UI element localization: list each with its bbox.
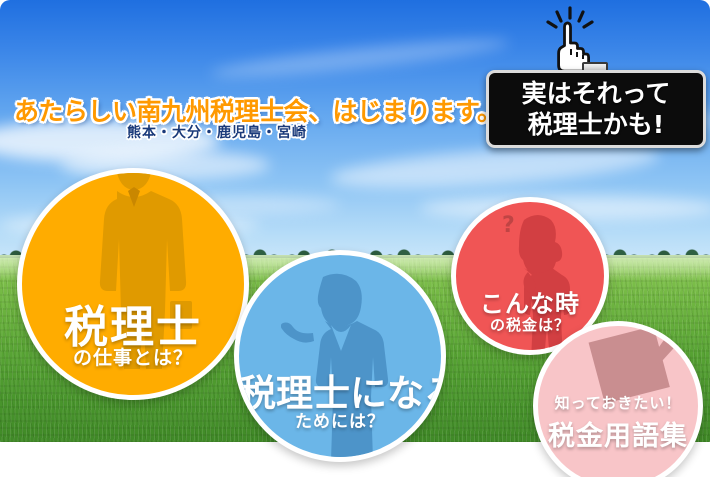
bubble-become-tax-accountant[interactable]: 税理士になる ためには？: [234, 250, 446, 462]
bubble-tax-accountant-job[interactable]: 税理士 の仕事とは？: [17, 168, 249, 400]
bubble-caption-sub: 税金用語集: [538, 414, 698, 453]
bubble-caption-sub: の仕事とは？: [22, 343, 244, 370]
sign-line-1: 実はそれって: [522, 78, 671, 109]
bubble-caption-main: 知っておきたい！: [538, 392, 698, 413]
bubble-tax-glossary[interactable]: 知っておきたい！ 税金用語集: [533, 321, 703, 477]
callout-sign[interactable]: 実はそれって 税理士かも!: [486, 6, 700, 142]
question-mark-badge: ?: [502, 213, 515, 238]
bubble-caption-sub: ためには？: [239, 407, 441, 432]
cloud-shape: [210, 32, 510, 83]
subtitle-prefectures: 熊本・大分・鹿児島・宮崎: [127, 122, 307, 142]
banner-image: あたらしい南九州税理士会、はじまります。 熊本・大分・鹿児島・宮崎 実はそれって…: [0, 0, 710, 477]
sign-line-2: 税理士かも!: [528, 109, 664, 140]
sign-board: 実はそれって 税理士かも!: [486, 70, 706, 148]
